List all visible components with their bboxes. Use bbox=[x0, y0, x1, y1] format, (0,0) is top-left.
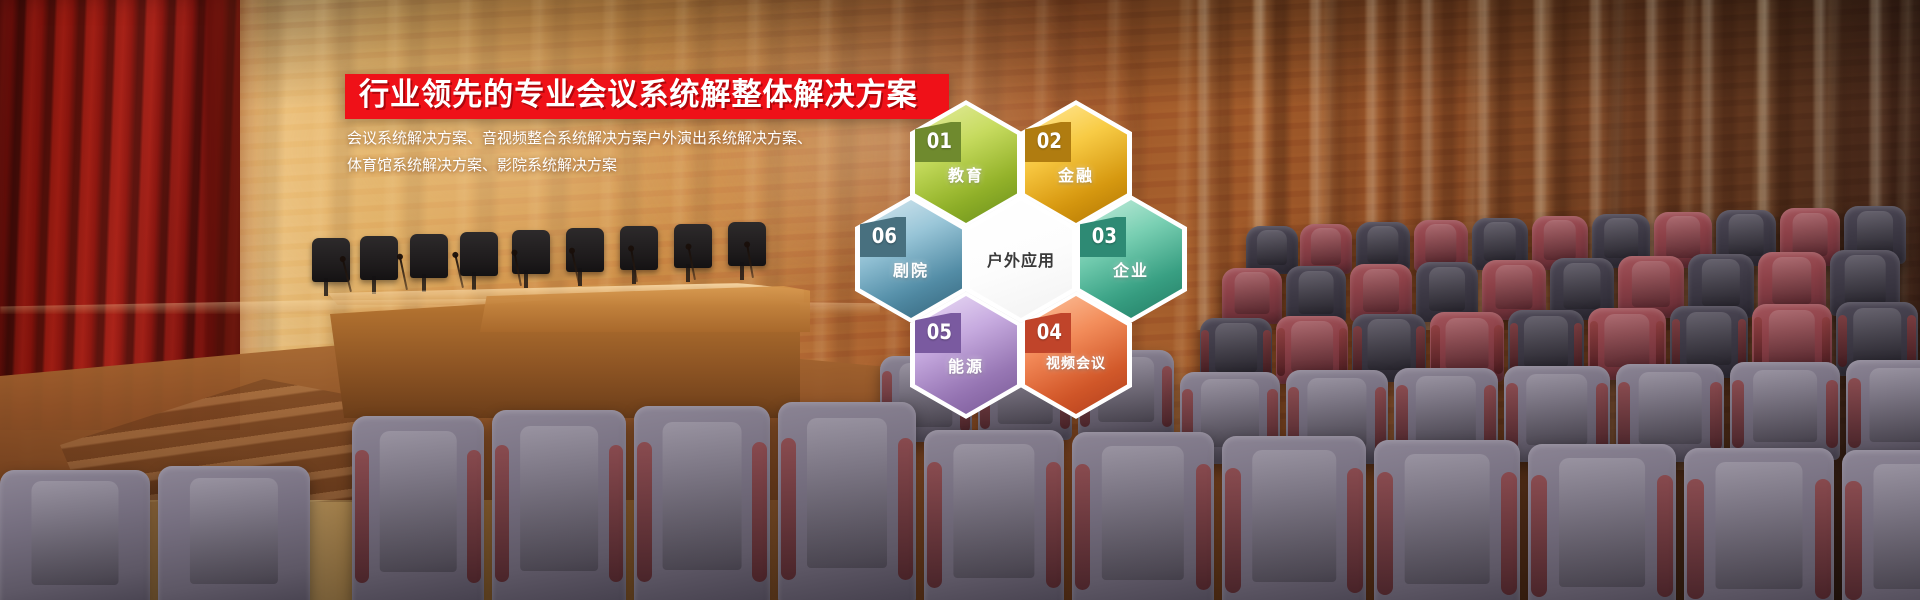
theater-seat bbox=[1842, 450, 1920, 600]
hex-label-01: 教育 bbox=[910, 162, 1022, 186]
theater-seat bbox=[634, 406, 770, 600]
theater-seat bbox=[158, 466, 310, 600]
hero-banner: 行业领先的专业会议系统解整体解决方案 会议系统解决方案、音视频整合系统解决方案户… bbox=[0, 0, 1920, 600]
theater-seat bbox=[1684, 448, 1834, 600]
hex-label-03: 企业 bbox=[1075, 257, 1187, 281]
page-title: 行业领先的专业会议系统解整体解决方案 bbox=[359, 78, 918, 112]
hex-label-05: 能源 bbox=[910, 353, 1022, 377]
theater-seat bbox=[352, 416, 484, 600]
hex-label-center: 户外应用 bbox=[965, 247, 1077, 271]
hex-number-01: 01 bbox=[927, 129, 952, 153]
hex-badge-06: 06 bbox=[860, 217, 906, 257]
hex-number-06: 06 bbox=[872, 224, 897, 248]
hex-badge-05: 05 bbox=[915, 313, 961, 353]
theater-seat bbox=[492, 410, 626, 600]
hex-badge-02: 02 bbox=[1025, 122, 1071, 162]
hex-number-02: 02 bbox=[1037, 129, 1062, 153]
hex-badge-03: 03 bbox=[1080, 217, 1126, 257]
theater-seat bbox=[1374, 440, 1520, 600]
solution-hexagon-cluster: 01 教育 02 金融 03 企业 bbox=[840, 95, 1260, 485]
hex-number-04: 04 bbox=[1037, 320, 1062, 344]
theater-seat bbox=[1528, 444, 1676, 600]
hex-badge-04: 04 bbox=[1025, 313, 1071, 353]
hex-badge-01: 01 bbox=[915, 122, 961, 162]
theater-seat bbox=[1730, 362, 1840, 460]
theater-seat bbox=[0, 470, 150, 600]
theater-seat bbox=[1846, 360, 1920, 460]
hex-label-02: 金融 bbox=[1020, 162, 1132, 186]
hex-number-03: 03 bbox=[1092, 224, 1117, 248]
hex-label-06: 剧院 bbox=[855, 257, 967, 281]
hex-number-05: 05 bbox=[927, 320, 952, 344]
hex-label-04: 视频会议 bbox=[1020, 353, 1132, 373]
